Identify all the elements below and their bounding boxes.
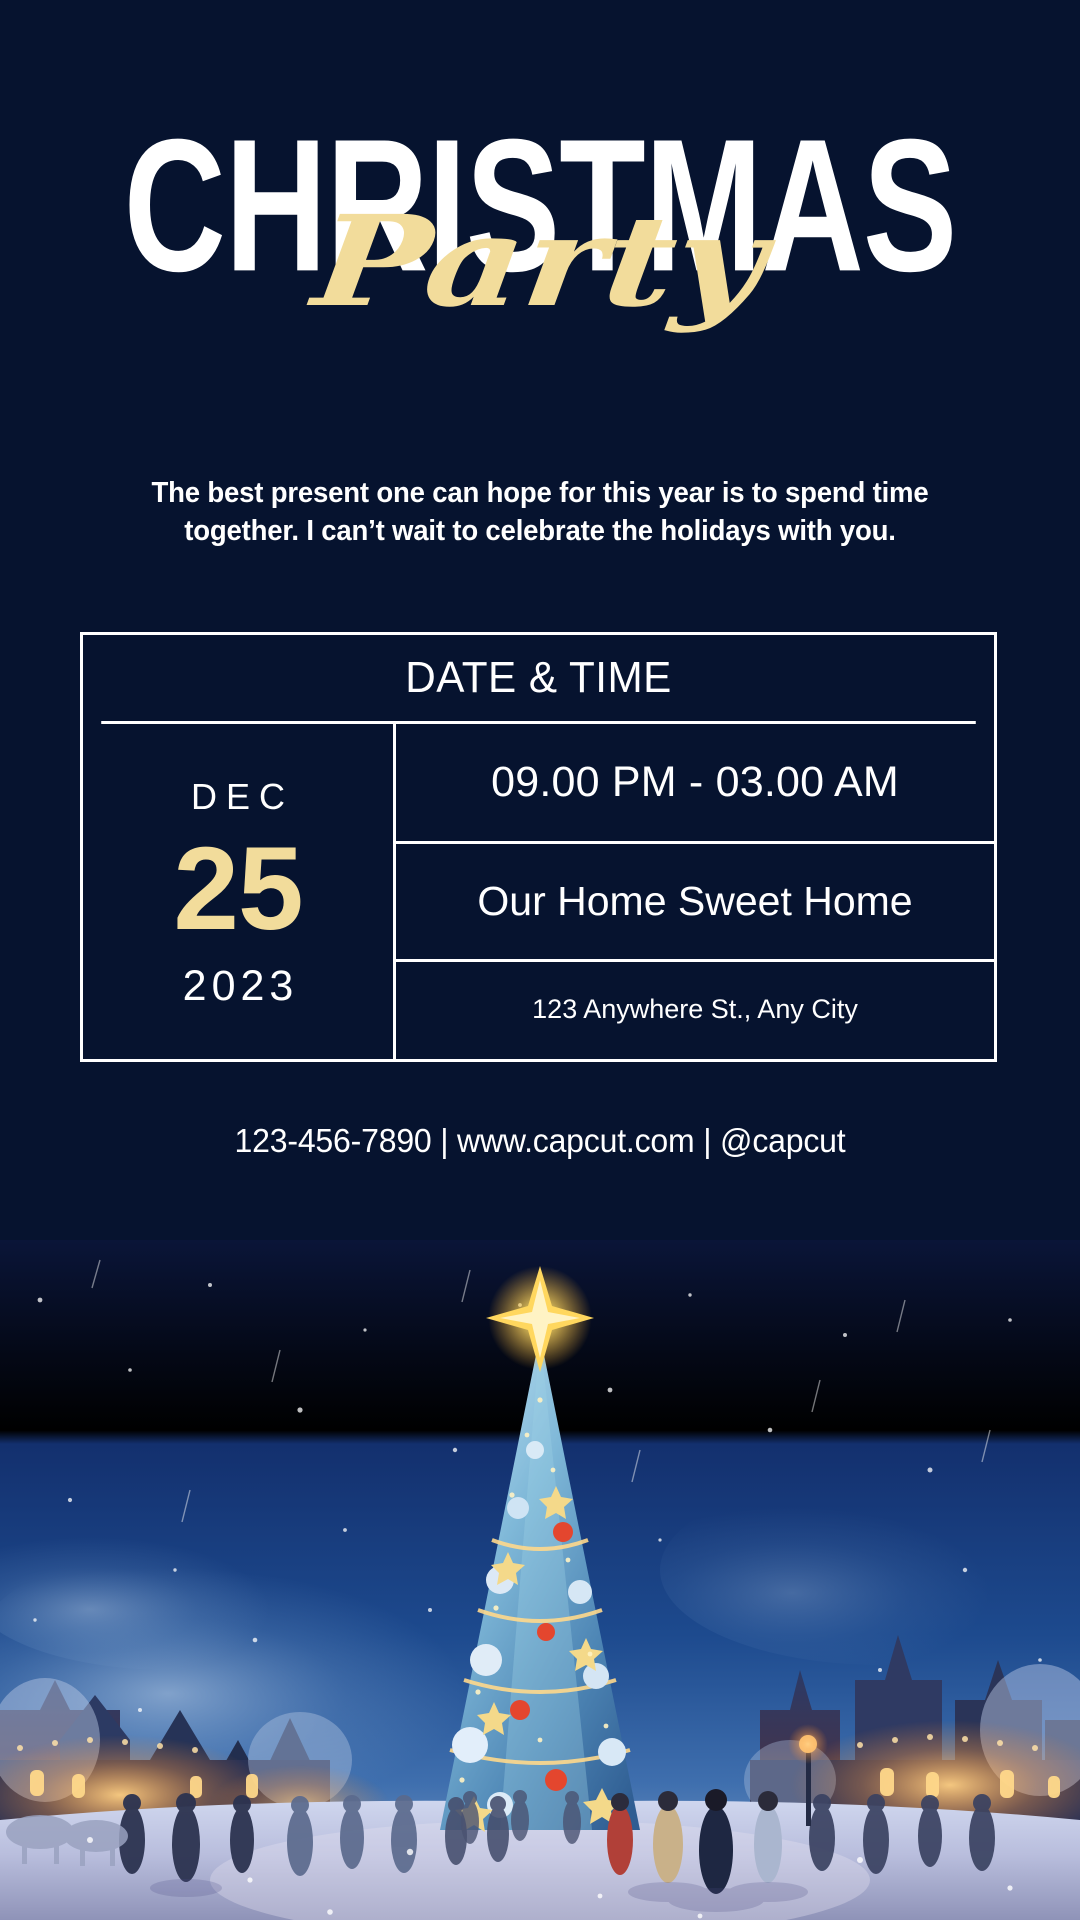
- date-time-table: DATE & TIME DEC 25 2023 09.00 PM - 03.00…: [80, 632, 997, 1062]
- christmas-scene-image: [0, 1240, 1080, 1920]
- date-month: DEC: [182, 779, 294, 815]
- christmas-scene-illustration: [0, 1240, 1080, 1920]
- title-script-party: Party: [0, 200, 1080, 325]
- intro-paragraph: The best present one can hope for this y…: [113, 474, 968, 550]
- christmas-party-poster: CHRISTMAS Party The best present one can…: [0, 0, 1080, 1920]
- detail-row-address: 123 Anywhere St., Any City: [396, 962, 994, 1056]
- date-time-table-header: DATE & TIME: [101, 635, 976, 724]
- date-year: 2023: [178, 965, 299, 1008]
- detail-row-venue: Our Home Sweet Home: [396, 844, 994, 962]
- detail-row-time: 09.00 PM - 03.00 AM: [396, 724, 994, 844]
- title-block: CHRISTMAS Party: [0, 112, 1080, 432]
- date-time-table-body: DEC 25 2023 09.00 PM - 03.00 AM Our Home…: [83, 724, 994, 1059]
- date-cell: DEC 25 2023: [83, 724, 396, 1059]
- contact-line: 123-456-7890 | www.capcut.com | @capcut: [16, 1122, 1064, 1160]
- details-cells: 09.00 PM - 03.00 AM Our Home Sweet Home …: [396, 724, 994, 1059]
- date-day: 25: [173, 829, 302, 949]
